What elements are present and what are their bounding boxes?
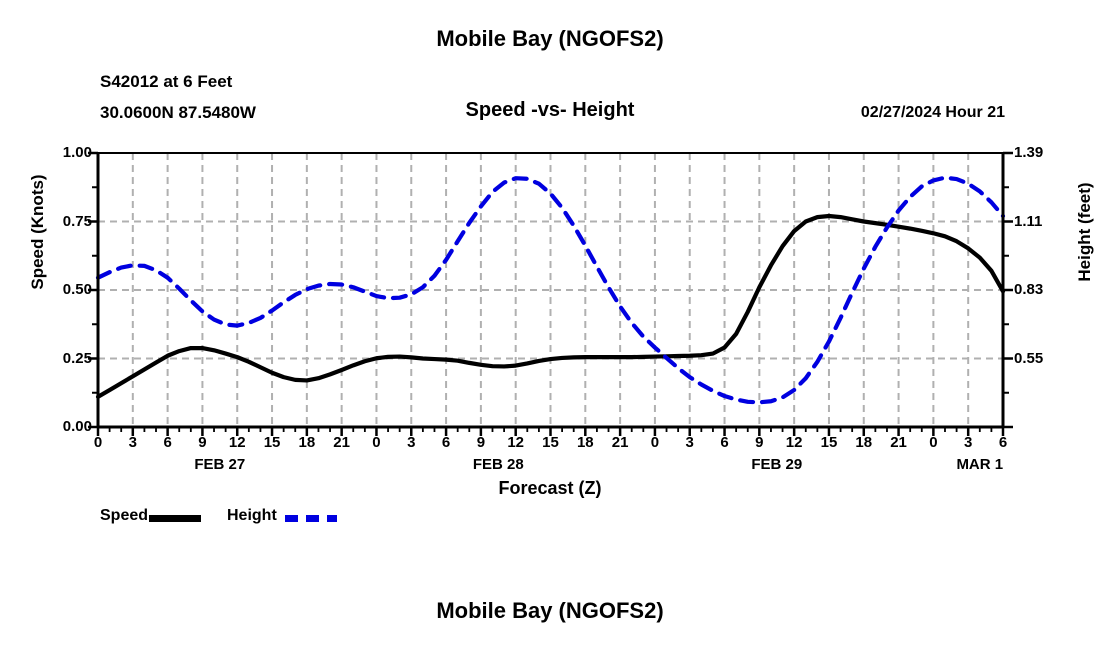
y-tick-label-right: 0.55 [1014,350,1084,367]
y-tick-label-right: 1.11 [1014,213,1084,230]
x-day-label: FEB 28 [428,456,568,473]
x-day-label: FEB 27 [150,456,290,473]
y-tick-label-left: 0.25 [22,350,92,367]
legend-label: Speed [100,507,148,525]
x-day-label: MAR 1 [910,456,1050,473]
y-tick-label-left: 0.50 [22,281,92,298]
y-tick-label-right: 1.39 [1014,144,1084,161]
legend-swatch-speed [149,515,201,522]
y-tick-label-right: 0.83 [1014,281,1084,298]
x-tick-label: 6 [983,434,1023,451]
y-tick-label-left: 0.00 [22,418,92,435]
chart-page: Mobile Bay (NGOFS2) S42012 at 6 Feet 30.… [0,0,1100,650]
legend-swatch-height [285,515,337,522]
legend-label: Height [227,507,277,525]
x-day-label: FEB 29 [707,456,847,473]
page-title-bottom: Mobile Bay (NGOFS2) [0,598,1100,624]
y-tick-label-left: 0.75 [22,213,92,230]
y-tick-label-left: 1.00 [22,144,92,161]
plot-area [0,0,1100,650]
